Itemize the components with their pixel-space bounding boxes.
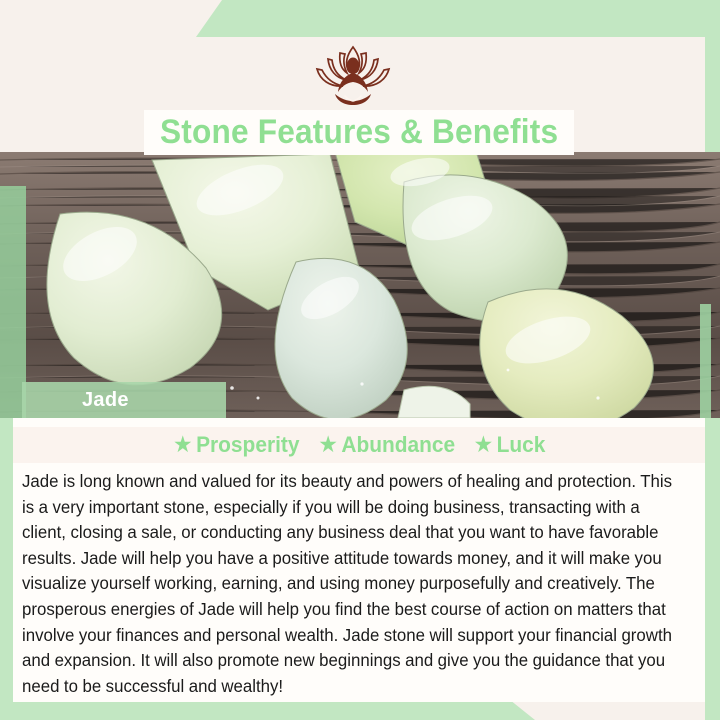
benefit-item-prosperity: ★ Prosperity: [174, 432, 299, 458]
decor-right-band-lower: [705, 418, 720, 720]
infographic-page: BUDDHA STONES Stone Features & Benefits: [0, 0, 720, 720]
star-icon: ★: [475, 435, 492, 455]
decor-top-band: [196, 0, 720, 37]
benefit-item-luck: ★ Luck: [475, 432, 546, 458]
star-icon: ★: [320, 435, 337, 455]
star-icon: ★: [174, 435, 191, 455]
content-panel: ★ Prosperity ★ Abundance ★ Luck Jade is …: [13, 418, 705, 702]
benefits-row: ★ Prosperity ★ Abundance ★ Luck: [13, 427, 705, 463]
title-banner: Stone Features & Benefits: [144, 110, 574, 155]
stone-photo: [0, 152, 720, 418]
photo-caption-bar: Jade: [22, 382, 226, 418]
page-title: Stone Features & Benefits: [160, 113, 558, 152]
benefit-item-abundance: ★ Abundance: [320, 432, 456, 458]
benefit-label: Prosperity: [196, 432, 299, 458]
decor-photo-right-strip: [700, 304, 711, 418]
lotus-meditation-icon: [293, 39, 413, 111]
decor-left-band: [0, 418, 13, 720]
benefit-label: Abundance: [342, 432, 456, 458]
description-paragraph: Jade is long known and valued for its be…: [22, 469, 687, 699]
photo-caption-label: Jade: [22, 389, 129, 412]
benefit-label: Luck: [497, 432, 546, 458]
stone-photo-illustration: [0, 152, 720, 418]
